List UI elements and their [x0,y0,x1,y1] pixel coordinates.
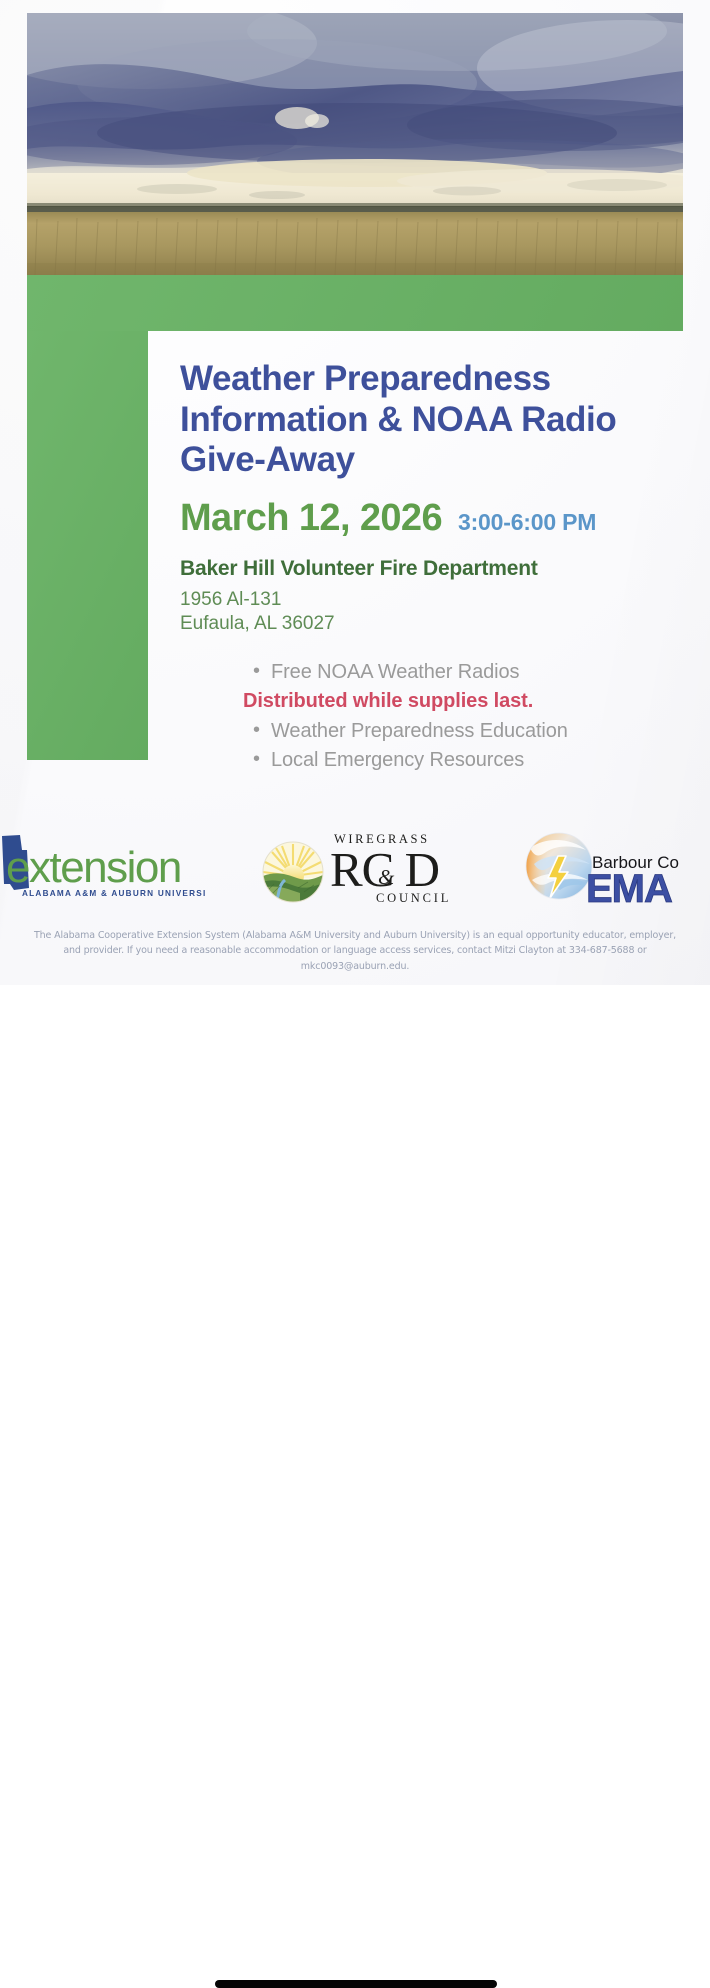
wiregrass-rcd-logo: WIREGRASS RC D & COUNCIL [252,826,470,906]
event-date: March 12, 2026 [180,497,442,540]
disclaimer-line-2: and provider. If you need a reasonable a… [14,943,696,974]
event-address: 1956 Al-131 Eufaula, AL 36027 [148,581,688,636]
title-line-3: Give-Away [180,440,688,481]
ema-main-text: EMA [586,867,672,908]
address-line-2: Eufaula, AL 36027 [180,612,688,636]
extension-subtitle: ALABAMA A&M & AUBURN UNIVERSITIES [22,889,205,898]
green-column-left [27,331,148,760]
rcd-bottom-text: COUNCIL [376,891,451,905]
disclaimer-text: The Alabama Cooperative Extension System… [0,928,710,974]
event-venue: Baker Hill Volunteer Fire Department [148,540,688,581]
sponsor-logos: extension ALABAMA A&M & AUBURN UNIVERSIT… [0,826,710,920]
flyer-content: Weather Preparedness Information & NOAA … [148,331,688,776]
address-line-1: 1956 Al-131 [180,588,688,612]
list-item: Free NOAA Weather Radios [253,658,688,688]
flyer-page: Weather Preparedness Information & NOAA … [0,0,710,1024]
supply-note: Distributed while supplies last. [243,687,688,717]
svg-text:extension: extension [6,843,181,892]
title-line-2: Information & NOAA Radio [180,400,688,441]
event-dateline: March 12, 2026 3:00-6:00 PM [148,481,688,540]
barbour-co-ema-logo: Barbour Co EMA [518,826,708,908]
green-band-top [27,275,683,331]
event-time: 3:00-6:00 PM [458,509,596,536]
svg-text:&: & [378,865,395,889]
disclaimer-line-1: The Alabama Cooperative Extension System… [14,928,696,943]
event-highlights: Free NOAA Weather Radios Distributed whi… [148,636,688,776]
page-title: Weather Preparedness Information & NOAA … [148,331,688,481]
list-item: Weather Preparedness Education [253,717,688,747]
title-line-1: Weather Preparedness [180,359,688,400]
list-item: Local Emergency Resources [253,746,688,776]
home-indicator-area [0,985,710,1024]
alabama-extension-logo: extension ALABAMA A&M & AUBURN UNIVERSIT… [0,826,205,904]
storm-field-photo [27,13,683,275]
home-indicator-bar[interactable] [215,1980,497,1988]
